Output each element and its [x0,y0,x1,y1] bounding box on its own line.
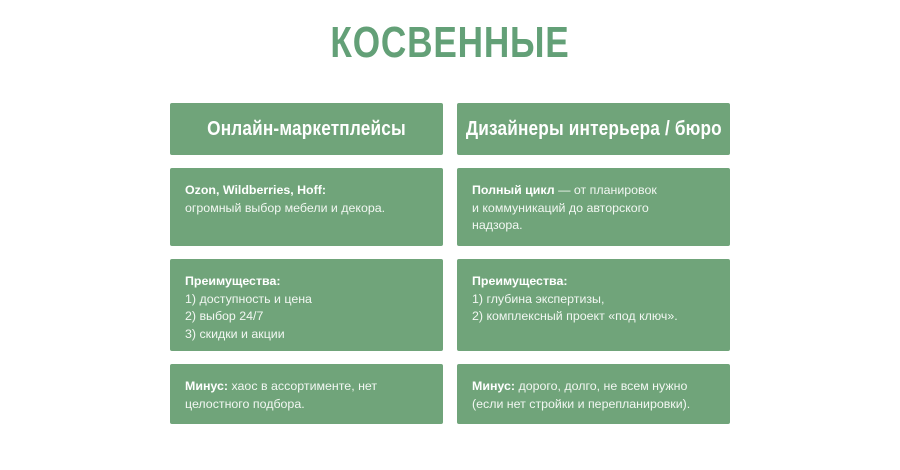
cell-lead: Минус: [185,379,228,393]
cell-line: целостного подбора. [185,396,427,414]
cell-body: Полный цикл — от планировок и коммуникац… [457,168,730,235]
cell-body: Минус: хаос в ассортименте, нет целостно… [170,364,443,413]
column-header-marketplaces: Онлайн-маркетплейсы [170,103,443,155]
cell-marketplaces-description: Ozon, Wildberries, Hoff: огромный выбор … [170,168,443,246]
cell-body: Минус: дорого, долго, не всем нужно (есл… [457,364,730,413]
cell-line: 2) комплексный проект «под ключ». [472,308,714,326]
slide-root: КОСВЕННЫЕ Онлайн-маркетплейсы Дизайнеры … [0,0,900,470]
column-header-designers: Дизайнеры интерьера / бюро [457,103,730,155]
cell-designers-advantages: Преимущества: 1) глубина экспертизы, 2) … [457,259,730,351]
cell-line: 1) глубина экспертизы, [472,291,714,309]
table-header-row: Онлайн-маркетплейсы Дизайнеры интерьера … [170,103,730,155]
cell-lead: Преимущества: [472,273,714,291]
page-title: КОСВЕННЫЕ [90,18,810,68]
cell-lead: Ozon, Wildberries, Hoff: [185,183,326,197]
cell-designers-minus: Минус: дорого, долго, не всем нужно (есл… [457,364,730,424]
table-row: Минус: хаос в ассортименте, нет целостно… [170,364,730,424]
column-header-label: Дизайнеры интерьера / бюро [465,118,721,141]
cell-lead: Преимущества: [185,273,427,291]
comparison-grid: Онлайн-маркетплейсы Дизайнеры интерьера … [170,103,730,424]
cell-line: — от планировок [558,183,657,197]
column-header-label: Онлайн-маркетплейсы [207,118,406,141]
cell-lead: Полный цикл [472,183,555,197]
cell-line: надзора. [472,217,714,235]
cell-line: 1) доступность и цена [185,291,427,309]
cell-body: Ozon, Wildberries, Hoff: огромный выбор … [170,168,443,217]
cell-line: хаос в ассортименте, нет [231,379,377,393]
cell-lead: Минус: [472,379,515,393]
cell-line: (если нет стройки и перепланировки). [472,396,714,414]
cell-marketplaces-advantages: Преимущества: 1) доступность и цена 2) в… [170,259,443,351]
cell-body: Преимущества: 1) доступность и цена 2) в… [170,259,443,343]
cell-line: 3) скидки и акции [185,326,427,344]
cell-marketplaces-minus: Минус: хаос в ассортименте, нет целостно… [170,364,443,424]
cell-line: огромный выбор мебели и декора. [185,200,427,218]
table-row: Ozon, Wildberries, Hoff: огромный выбор … [170,168,730,246]
cell-line: 2) выбор 24/7 [185,308,427,326]
table-row: Преимущества: 1) доступность и цена 2) в… [170,259,730,351]
cell-body: Преимущества: 1) глубина экспертизы, 2) … [457,259,730,326]
cell-line: и коммуникаций до авторского [472,200,714,218]
cell-designers-description: Полный цикл — от планировок и коммуникац… [457,168,730,246]
cell-line: дорого, долго, не всем нужно [518,379,687,393]
